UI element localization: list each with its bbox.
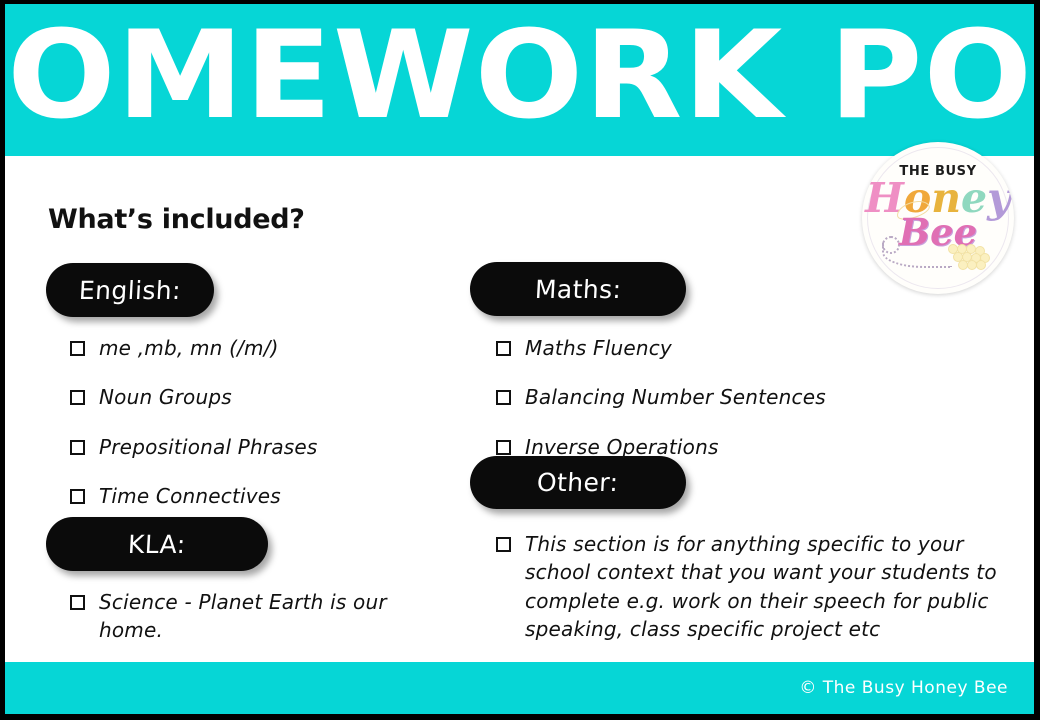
list-item[interactable]: Noun Groups (70, 383, 400, 411)
checklist-other: This section is for anything specific to… (496, 530, 1016, 644)
brand-logo: THE BUSY Honey Bee (862, 142, 1014, 294)
header-band: HOMEWORK POD (5, 4, 1034, 156)
section-pill-maths: Maths: (470, 262, 686, 316)
list-item-label: Prepositional Phrases (99, 433, 318, 461)
checkbox-icon[interactable] (496, 390, 511, 405)
list-item-label: Noun Groups (99, 383, 232, 411)
section-pill-maths-label: Maths: (534, 275, 622, 304)
checklist-kla: Science - Planet Earth is our home. (70, 588, 430, 666)
list-item-label: me ,mb, mn (/m/) (99, 334, 279, 362)
checkbox-icon[interactable] (70, 440, 85, 455)
section-pill-english: English: (46, 263, 214, 317)
checkbox-icon[interactable] (70, 489, 85, 504)
page-title: HOMEWORK POD (5, 16, 1034, 144)
list-item-label: This section is for anything specific to… (525, 530, 1016, 644)
list-item-label: Time Connectives (99, 482, 281, 510)
section-pill-kla-label: KLA: (127, 530, 186, 559)
checkbox-icon[interactable] (496, 537, 511, 552)
checkbox-icon[interactable] (70, 341, 85, 356)
checklist-english: me ,mb, mn (/m/) Noun Groups Preposition… (70, 334, 400, 532)
list-item-label: Inverse Operations (525, 433, 719, 461)
slide: HOMEWORK POD What’s included? English: K… (0, 0, 1040, 720)
honeycomb-icon (948, 244, 992, 270)
footer-band: © The Busy Honey Bee (5, 662, 1034, 714)
checklist-maths: Maths Fluency Balancing Number Sentences… (496, 334, 916, 482)
checkbox-icon[interactable] (70, 595, 85, 610)
checkbox-icon[interactable] (70, 390, 85, 405)
section-heading: What’s included? (48, 204, 305, 235)
list-item-label: Maths Fluency (525, 334, 672, 362)
list-item[interactable]: me ,mb, mn (/m/) (70, 334, 400, 362)
list-item-label: Science - Planet Earth is our home. (99, 588, 430, 645)
list-item[interactable]: Time Connectives (70, 482, 400, 510)
list-item[interactable]: Prepositional Phrases (70, 433, 400, 461)
checkbox-icon[interactable] (496, 440, 511, 455)
list-item[interactable]: Inverse Operations (496, 433, 916, 461)
checkbox-icon[interactable] (496, 341, 511, 356)
section-pill-english-label: English: (78, 276, 181, 305)
copyright-text: © The Busy Honey Bee (799, 678, 1008, 698)
list-item[interactable]: Maths Fluency (496, 334, 916, 362)
list-item[interactable]: Science - Planet Earth is our home. (70, 588, 430, 645)
list-item[interactable]: Balancing Number Sentences (496, 383, 916, 411)
list-item[interactable]: This section is for anything specific to… (496, 530, 1016, 644)
list-item-label: Balancing Number Sentences (525, 383, 826, 411)
